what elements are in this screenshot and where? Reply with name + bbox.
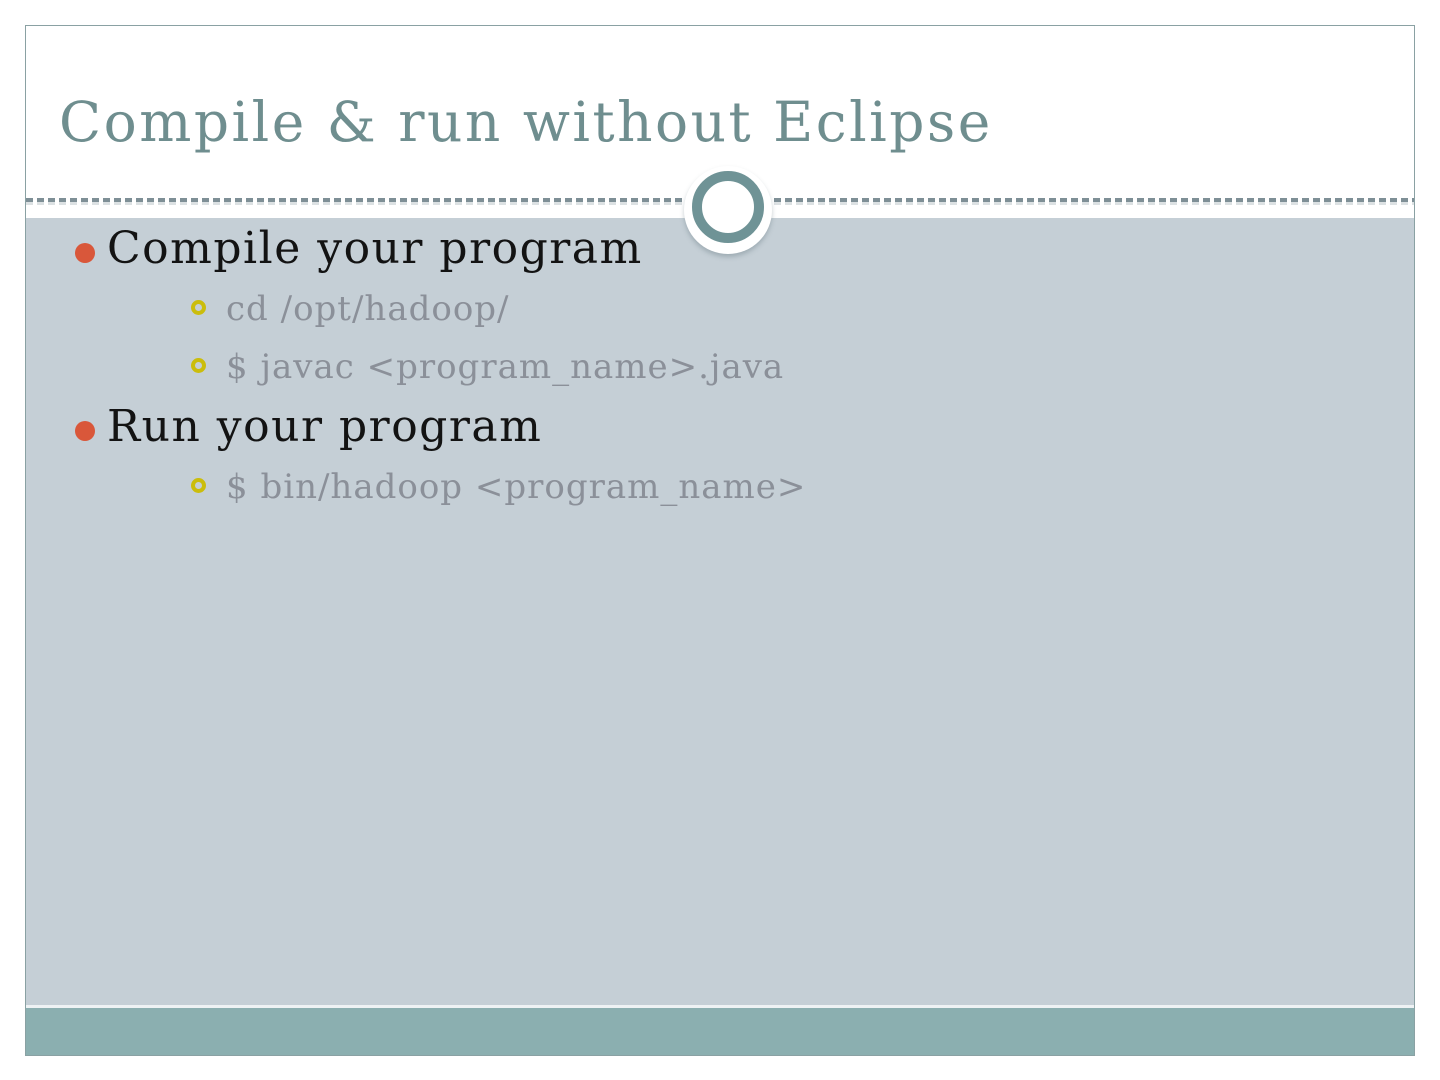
slide-canvas: Compile & run without Eclipse Compile yo… [0, 0, 1440, 1080]
hollow-circle-bullet-icon [191, 478, 206, 493]
bullet-list-level2: cd /opt/hadoop/ $ javac <program_name>.j… [107, 280, 1414, 396]
bullet-list-level2: $ bin/hadoop <program_name> [107, 458, 1414, 516]
list-item-label: $ javac <program_name>.java [226, 338, 1414, 396]
list-item: cd /opt/hadoop/ [107, 280, 1414, 338]
footer-band [26, 1005, 1414, 1056]
list-item-label: Run your program [107, 396, 1414, 458]
hollow-circle-bullet-icon [191, 300, 206, 315]
list-item: $ javac <program_name>.java [107, 338, 1414, 396]
list-item-label: Compile your program [107, 218, 1414, 280]
list-item-label: $ bin/hadoop <program_name> [226, 458, 1414, 516]
content-list: Compile your program cd /opt/hadoop/ $ j… [26, 218, 1414, 516]
filled-circle-bullet-icon [75, 421, 95, 441]
hollow-circle-bullet-icon [191, 358, 206, 373]
list-item: Run your program $ bin/hadoop <program_n… [26, 396, 1414, 516]
list-item: $ bin/hadoop <program_name> [107, 458, 1414, 516]
list-item: Compile your program cd /opt/hadoop/ $ j… [26, 218, 1414, 396]
filled-circle-bullet-icon [75, 243, 95, 263]
list-item-label: cd /opt/hadoop/ [226, 280, 1414, 338]
page-title: Compile & run without Eclipse [59, 89, 993, 155]
bullet-list-level1: Compile your program cd /opt/hadoop/ $ j… [26, 218, 1414, 516]
slide-frame: Compile & run without Eclipse Compile yo… [25, 25, 1415, 1056]
